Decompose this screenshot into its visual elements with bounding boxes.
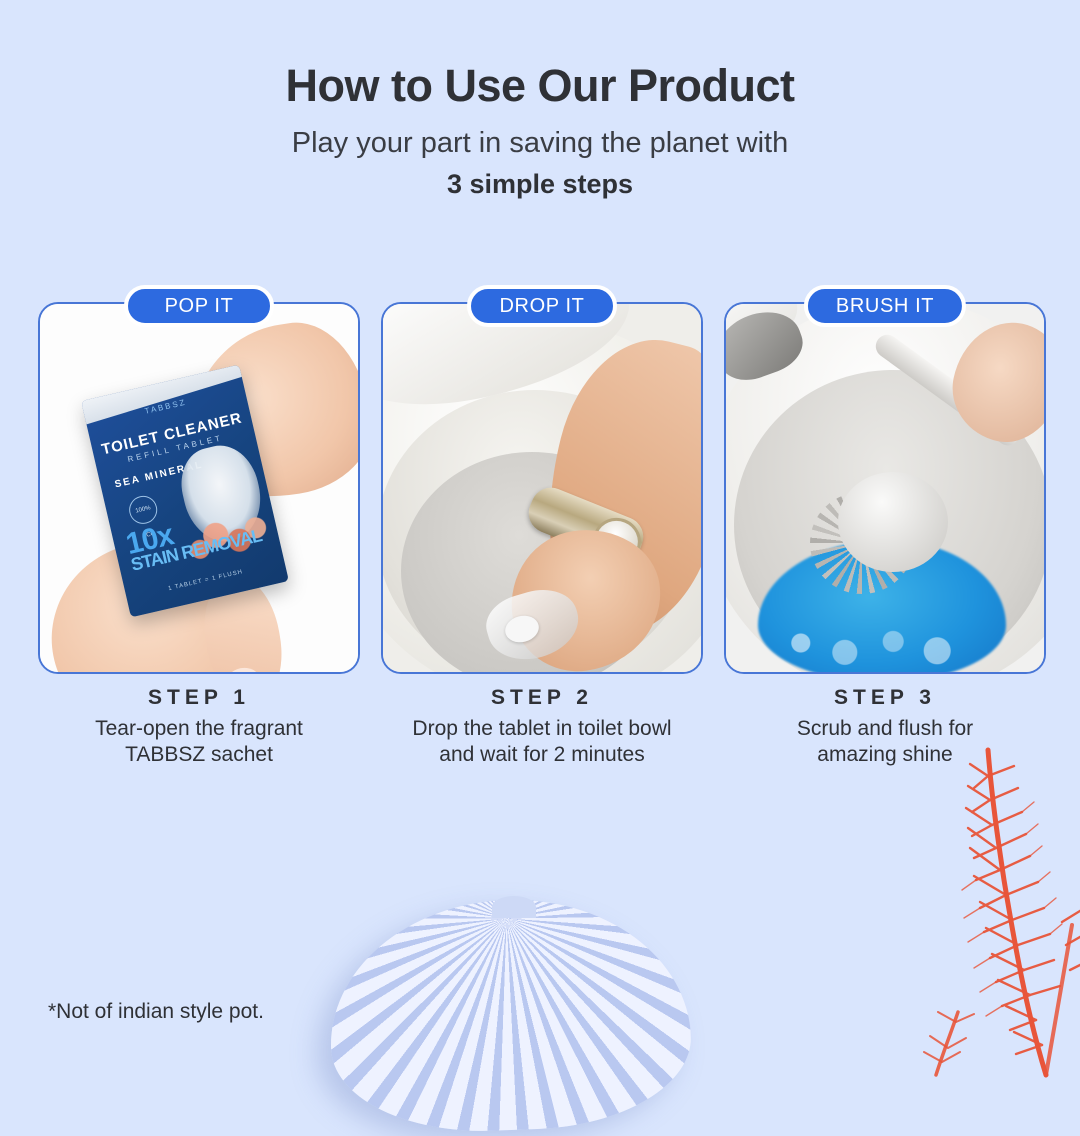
step-badge-label-1: POP IT	[165, 295, 234, 318]
step-photo-3	[726, 304, 1044, 672]
step-captions-row: STEP 1 Tear-open the fragrant TABBSZ sac…	[38, 686, 1046, 769]
seashell-hinge	[492, 896, 536, 918]
footnote: *Not of indian style pot.	[48, 1000, 264, 1024]
step-badge-label-2: DROP IT	[500, 295, 585, 318]
step-description-1-line2: TABBSZ sachet	[125, 743, 273, 766]
brush-head	[838, 472, 948, 572]
step-description-2: Drop the tablet in toilet bowl and wait …	[381, 716, 703, 769]
step-label-2: STEP 2	[381, 686, 703, 710]
step-label-1: STEP 1	[38, 686, 360, 710]
coral-icon	[906, 730, 1080, 1080]
step-description-1: Tear-open the fragrant TABBSZ sachet	[38, 716, 360, 769]
foam-bubbles	[770, 604, 990, 672]
step-photo-1: TABBSZ TOILET CLEANER REFILL TABLET SEA …	[40, 304, 358, 672]
steps-card-row: TABBSZ TOILET CLEANER REFILL TABLET SEA …	[38, 302, 1046, 674]
step-badge-1[interactable]: POP IT	[124, 285, 274, 327]
page-header: How to Use Our Product Play your part in…	[0, 0, 1080, 200]
page-subtitle-line2: 3 simple steps	[0, 163, 1080, 200]
step-description-2-line1: Drop the tablet in toilet bowl	[412, 717, 671, 740]
page-title: How to Use Our Product	[0, 0, 1080, 109]
step-card-1[interactable]: TABBSZ TOILET CLEANER REFILL TABLET SEA …	[38, 302, 360, 674]
coral-decoration	[906, 730, 1080, 1080]
step-card-2[interactable]: DROP IT	[381, 302, 703, 674]
step-caption-1: STEP 1 Tear-open the fragrant TABBSZ sac…	[38, 686, 360, 769]
step-photo-2	[383, 304, 701, 672]
step-description-2-line2: and wait for 2 minutes	[439, 743, 644, 766]
step-badge-3[interactable]: BRUSH IT	[804, 285, 966, 327]
step-badge-2[interactable]: DROP IT	[467, 285, 617, 327]
step-caption-2: STEP 2 Drop the tablet in toilet bowl an…	[381, 686, 703, 769]
step-badge-label-3: BRUSH IT	[836, 295, 934, 318]
seashell-decoration	[326, 894, 694, 1136]
page-subtitle-line1: Play your part in saving the planet with	[0, 109, 1080, 163]
step-description-1-line1: Tear-open the fragrant	[95, 717, 303, 740]
step-card-3[interactable]: BRUSH IT	[724, 302, 1046, 674]
step-label-3: STEP 3	[724, 686, 1046, 710]
